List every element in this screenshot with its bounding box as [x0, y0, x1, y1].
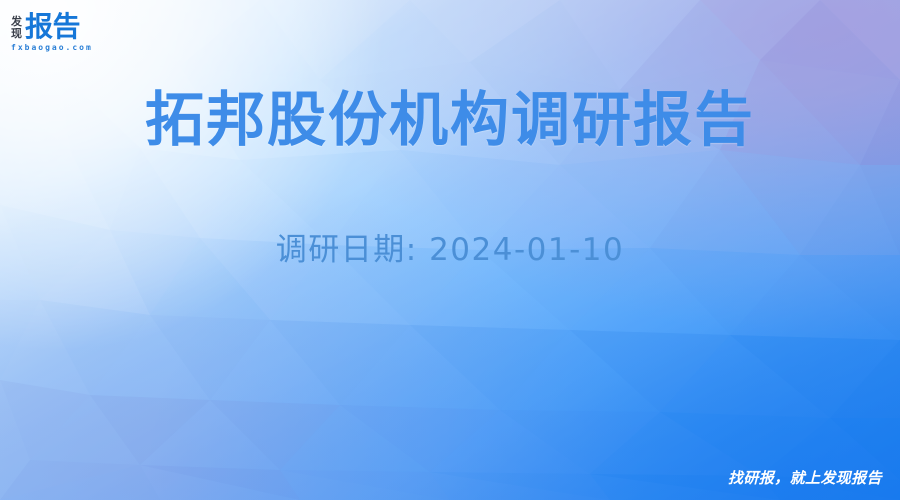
- title-block: 拓邦股份机构调研报告: [0, 84, 900, 156]
- report-cover: 发 现 报告 fxbaogao.com 拓邦股份机构调研报告 调研日期: 202…: [0, 0, 900, 500]
- footer-tagline-wrap: 找研报，就上发现报告: [728, 468, 882, 488]
- page-title: 拓邦股份机构调研报告: [0, 84, 900, 156]
- logo-char-xian: 现: [11, 28, 22, 40]
- logo-row: 发 现 报告: [11, 9, 107, 42]
- logo-domain-text: fxbaogao.com: [11, 43, 107, 53]
- subtitle-block: 调研日期: 2024-01-10: [0, 229, 900, 271]
- footer-tagline: 找研报，就上发现报告: [728, 468, 882, 488]
- logo-wordmark: 报告: [25, 12, 80, 42]
- logo-stacked-characters: 发 现: [11, 16, 22, 42]
- survey-date-subtitle: 调研日期: 2024-01-10: [0, 229, 900, 271]
- site-logo[interactable]: 发 现 报告 fxbaogao.com: [11, 9, 107, 53]
